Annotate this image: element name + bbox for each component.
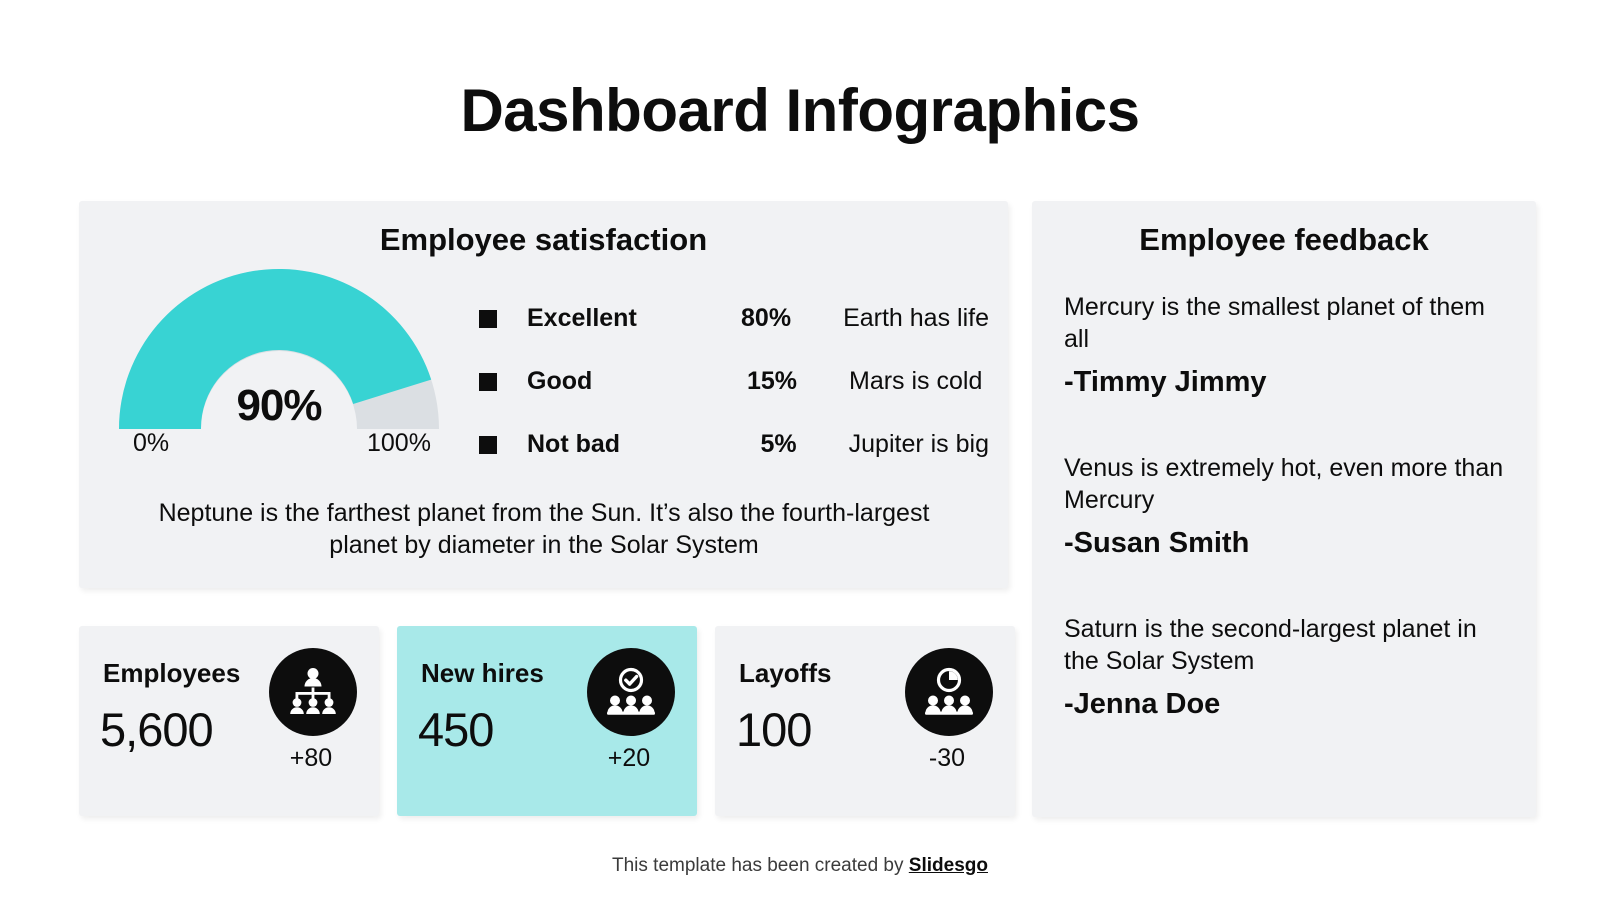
feedback-list: Mercury is the smallest planet of them a… (1064, 291, 1504, 721)
legend-label: Not bad (527, 430, 705, 459)
kpi-label: Layoffs (739, 658, 831, 689)
legend-value: 80% (701, 304, 791, 333)
feedback-author: -Jenna Doe (1064, 687, 1504, 722)
satisfaction-gauge: 90% 0% 100% (99, 263, 459, 493)
legend-value: 15% (705, 367, 797, 396)
kpi-value: 5,600 (100, 702, 213, 757)
legend-label: Excellent (527, 304, 701, 333)
org-chart-people-glyph (286, 665, 340, 719)
clock-people-glyph (922, 665, 976, 719)
slide-root: Dashboard Infographics Employee satisfac… (0, 0, 1600, 900)
kpi-card-new-hires[interactable]: New hires 450 +20 (397, 626, 697, 816)
legend-label: Good (527, 367, 705, 396)
check-circle-people-glyph (604, 665, 658, 719)
legend-note: Earth has life (843, 304, 989, 333)
feedback-quote: Saturn is the second-largest planet in t… (1064, 613, 1504, 677)
legend-row: Good 15% Mars is cold (479, 350, 989, 413)
satisfaction-description: Neptune is the farthest planet from the … (149, 497, 939, 561)
kpi-delta: -30 (917, 744, 977, 773)
satisfaction-heading: Employee satisfaction (79, 221, 1008, 258)
employee-satisfaction-panel: Employee satisfaction 90% 0% 100% Excell… (79, 201, 1008, 588)
legend-note: Jupiter is big (849, 430, 989, 459)
clock-people-icon (905, 648, 993, 736)
legend-note: Mars is cold (849, 367, 982, 396)
black-square-icon (479, 436, 497, 454)
check-circle-people-icon (587, 648, 675, 736)
feedback-author: -Susan Smith (1064, 526, 1504, 561)
legend-row: Excellent 80% Earth has life (479, 287, 989, 350)
kpi-label: Employees (103, 658, 240, 689)
feedback-heading: Employee feedback (1032, 221, 1536, 258)
legend-row: Not bad 5% Jupiter is big (479, 413, 989, 476)
black-square-icon (479, 310, 497, 328)
slidesgo-link[interactable]: Slidesgo (909, 855, 988, 876)
feedback-author: -Timmy Jimmy (1064, 365, 1504, 400)
feedback-quote: Mercury is the smallest planet of them a… (1064, 291, 1504, 355)
list-item: Saturn is the second-largest planet in t… (1064, 613, 1504, 722)
footer-credit: This template has been created by Slides… (0, 855, 1600, 877)
legend-value: 5% (705, 430, 797, 459)
satisfaction-legend: Excellent 80% Earth has life Good 15% Ma… (479, 287, 989, 476)
black-square-icon (479, 373, 497, 391)
feedback-quote: Venus is extremely hot, even more than M… (1064, 452, 1504, 516)
gauge-center-value: 90% (99, 381, 459, 431)
gauge-max-label: 100% (367, 429, 431, 458)
kpi-value: 450 (418, 702, 493, 757)
kpi-value: 100 (736, 702, 811, 757)
list-item: Mercury is the smallest planet of them a… (1064, 291, 1504, 400)
kpi-delta: +80 (281, 744, 341, 773)
kpi-card-layoffs[interactable]: Layoffs 100 -30 (715, 626, 1015, 816)
list-item: Venus is extremely hot, even more than M… (1064, 452, 1504, 561)
org-chart-people-icon (269, 648, 357, 736)
kpi-card-employees[interactable]: Employees 5,600 +80 (79, 626, 379, 816)
page-title: Dashboard Infographics (0, 78, 1600, 144)
footer-prefix: This template has been created by (612, 855, 909, 876)
employee-feedback-panel: Employee feedback Mercury is the smalles… (1032, 201, 1536, 817)
kpi-delta: +20 (599, 744, 659, 773)
gauge-min-label: 0% (133, 429, 169, 458)
kpi-label: New hires (421, 658, 544, 689)
